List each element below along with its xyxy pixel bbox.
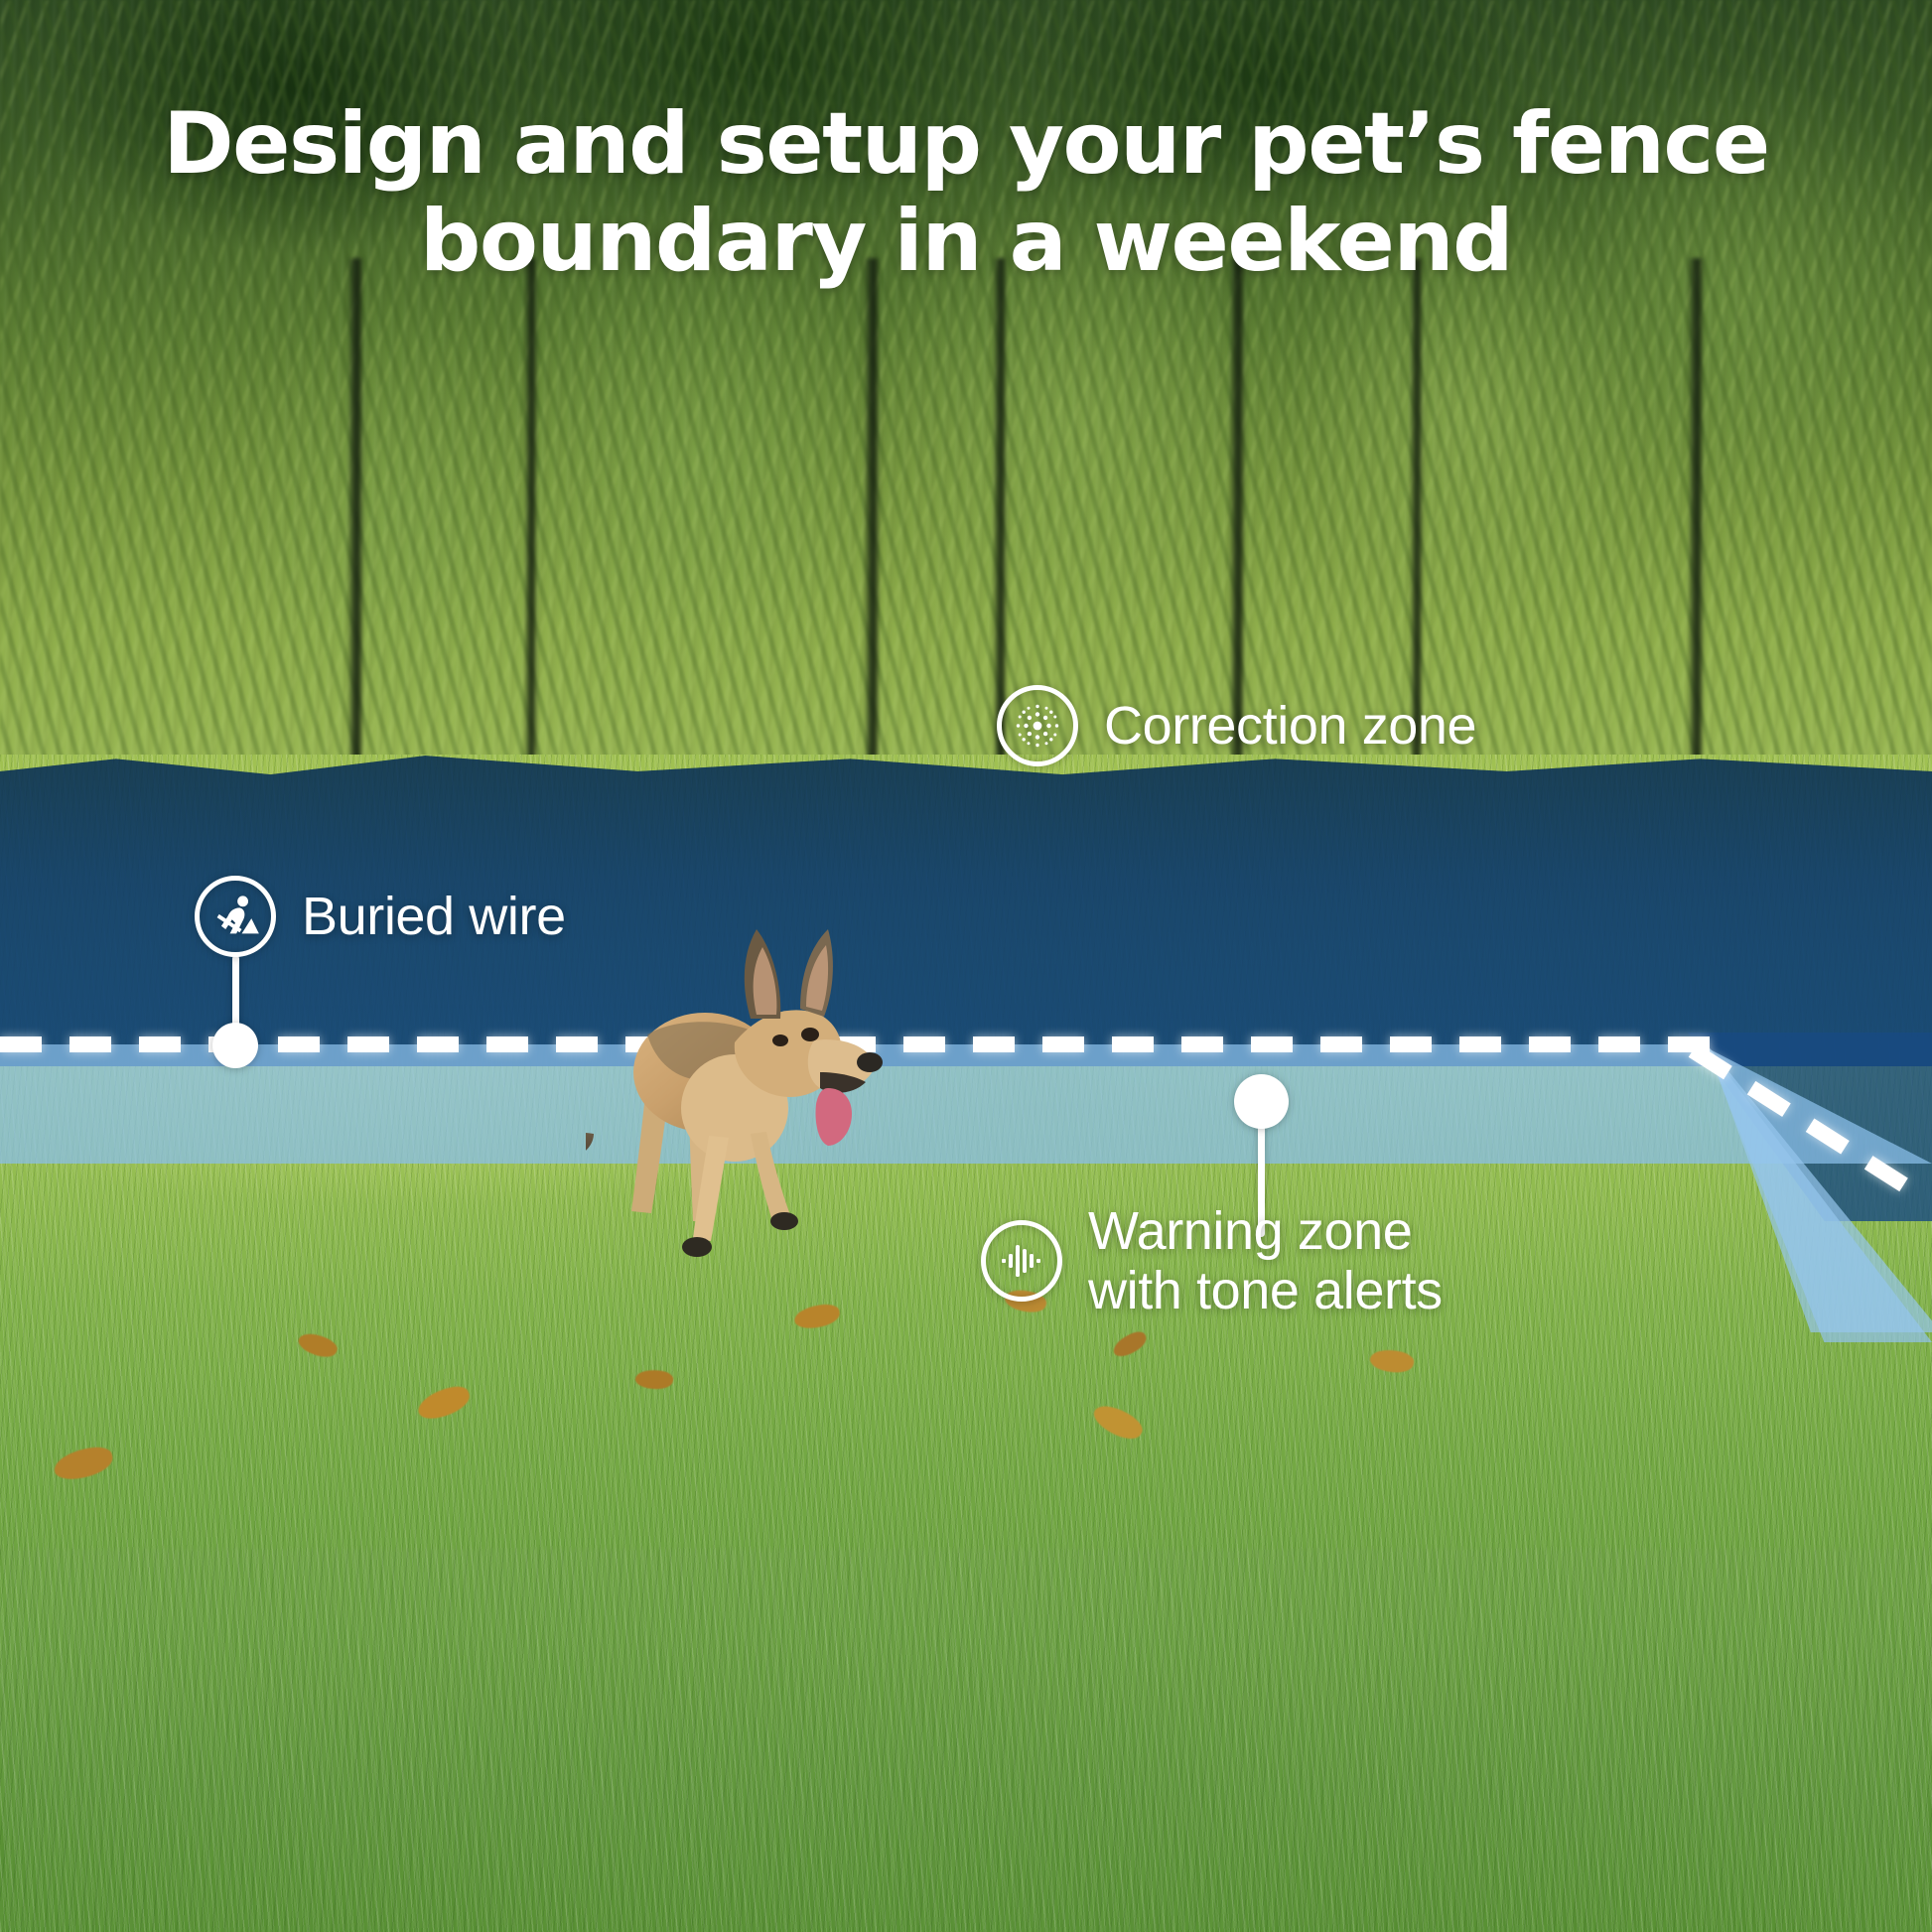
page-title: Design and setup your pet’s fence bounda…: [0, 95, 1932, 290]
background-tree-trunk: [524, 258, 537, 774]
warning-zone-leader-dot: [1234, 1074, 1289, 1129]
background-tree-trunk: [1688, 258, 1704, 774]
running-dog: [586, 923, 884, 1261]
callout-correction-zone-label: Correction zone: [1104, 696, 1476, 756]
callout-warning-zone: Warning zone with tone alerts: [981, 1201, 1443, 1321]
background-tree-trunk: [347, 258, 363, 774]
callout-buried-wire: Buried wire: [195, 876, 566, 957]
digging-worker-icon: [195, 876, 276, 957]
warning-zone-overlay: [0, 1044, 1932, 1164]
promo-image: Design and setup your pet’s fence bounda…: [0, 0, 1932, 1932]
radial-pulse-icon: [997, 685, 1078, 766]
background-tree-trunk: [864, 258, 880, 774]
foreground-grass-blur: [0, 1549, 1932, 1932]
buried-wire-leader-dot: [212, 1023, 258, 1068]
callout-correction-zone: Correction zone: [997, 685, 1476, 766]
callout-warning-zone-label: Warning zone with tone alerts: [1088, 1201, 1443, 1321]
callout-buried-wire-label: Buried wire: [302, 887, 566, 946]
sound-wave-icon: [981, 1220, 1062, 1302]
